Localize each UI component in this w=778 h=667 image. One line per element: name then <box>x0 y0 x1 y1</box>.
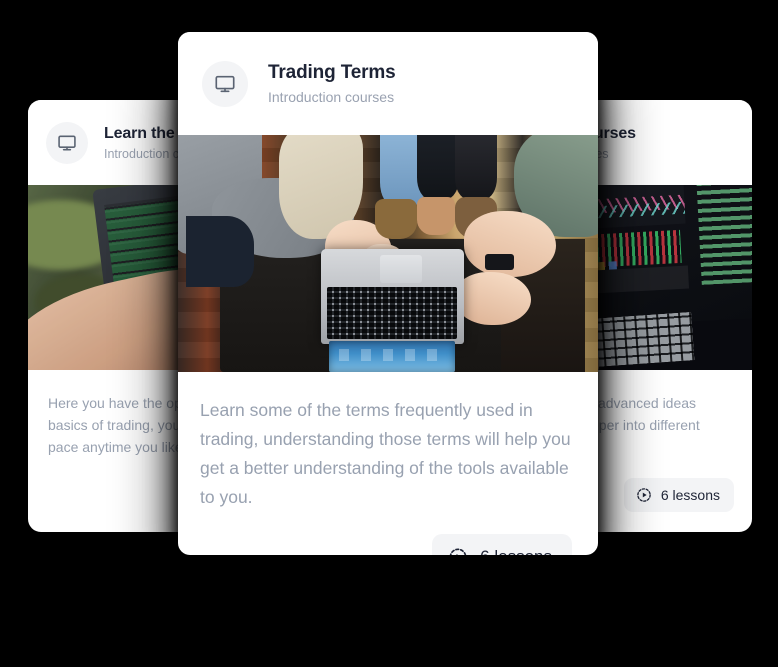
monitor-icon <box>202 61 248 107</box>
lessons-badge[interactable]: 6 lessons <box>432 534 572 555</box>
monitor-icon <box>46 122 88 164</box>
lessons-badge-label: 6 lessons <box>480 547 552 555</box>
play-circle-icon <box>636 487 652 503</box>
card-stack: Learn the Basics Introduction courses <box>0 0 778 667</box>
card-subtitle: Introduction courses <box>268 89 396 105</box>
course-thumbnail <box>178 135 598 372</box>
course-card-trading-terms[interactable]: Trading Terms Introduction courses <box>178 32 598 555</box>
play-circle-icon <box>448 547 468 555</box>
card-header-text: Trading Terms Introduction courses <box>268 62 396 105</box>
lessons-badge-label: 6 lessons <box>661 487 720 503</box>
lessons-badge[interactable]: 6 lessons <box>624 478 734 512</box>
card-header: Trading Terms Introduction courses <box>178 32 598 135</box>
badge-row: 6 lessons <box>178 512 598 555</box>
card-title: Trading Terms <box>268 62 396 84</box>
course-description: Learn some of the terms frequently used … <box>178 372 598 512</box>
